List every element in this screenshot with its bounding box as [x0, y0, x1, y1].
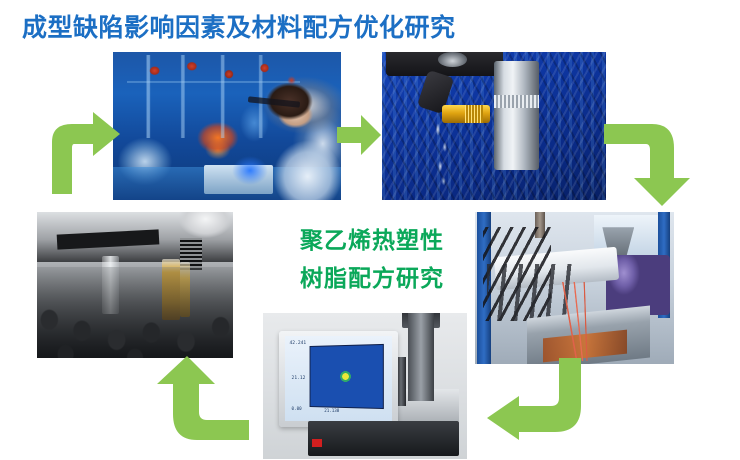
surface-topography-heatmap	[309, 344, 384, 409]
arrow-straight-right-icon	[337, 115, 381, 155]
cnc-spindle	[438, 52, 467, 67]
center-label-line-1: 聚乙烯热塑性	[282, 222, 462, 260]
cnc-swarf-chips	[431, 120, 453, 188]
cnc-gold-knurl	[465, 105, 483, 123]
center-label-line-2: 树脂配方研究	[282, 260, 462, 298]
photo-lab-content	[113, 52, 341, 200]
metrology-red-button	[312, 439, 322, 448]
arrow-curve-right-down-icon	[604, 118, 700, 206]
heatmap-x-label: 21.138	[324, 408, 339, 413]
vial-filling-line-photo	[37, 212, 233, 358]
metrology-stage	[308, 421, 459, 456]
photo-metrology-content: 42.241 21.12 0.00 21.138	[263, 313, 467, 459]
photo-extruder-content	[475, 212, 674, 364]
surface-metrology-photo: 42.241 21.12 0.00 21.138	[263, 313, 467, 459]
heatmap-y-mid-label: 21.12	[292, 376, 306, 381]
arrow-curve-left-up-icon	[157, 356, 249, 440]
heatmap-y-top-label: 42.241	[290, 341, 307, 346]
photo-vials-content	[37, 212, 233, 358]
slide-canvas: 成型缺陷影响因素及材料配方优化研究	[0, 0, 740, 460]
arrow-curve-up-right-icon	[38, 112, 120, 194]
vials-black-caps-row	[37, 267, 233, 358]
arrow-curve-down-left-icon	[487, 358, 581, 440]
heatmap-y-bottom-label: 0.00	[292, 406, 302, 411]
cnc-machining-photo	[382, 52, 606, 200]
extrusion-line-photo	[475, 212, 674, 364]
extruder-polymer-strands	[555, 282, 607, 361]
cnc-knurled-band	[494, 95, 539, 108]
chemistry-laboratory-photo	[113, 52, 341, 200]
page-title: 成型缺陷影响因素及材料配方优化研究	[22, 8, 456, 44]
center-label: 聚乙烯热塑性 树脂配方研究	[282, 222, 462, 298]
cnc-steel-cylinder	[494, 61, 539, 171]
metrology-column	[408, 313, 435, 401]
photo-cnc-content	[382, 52, 606, 200]
